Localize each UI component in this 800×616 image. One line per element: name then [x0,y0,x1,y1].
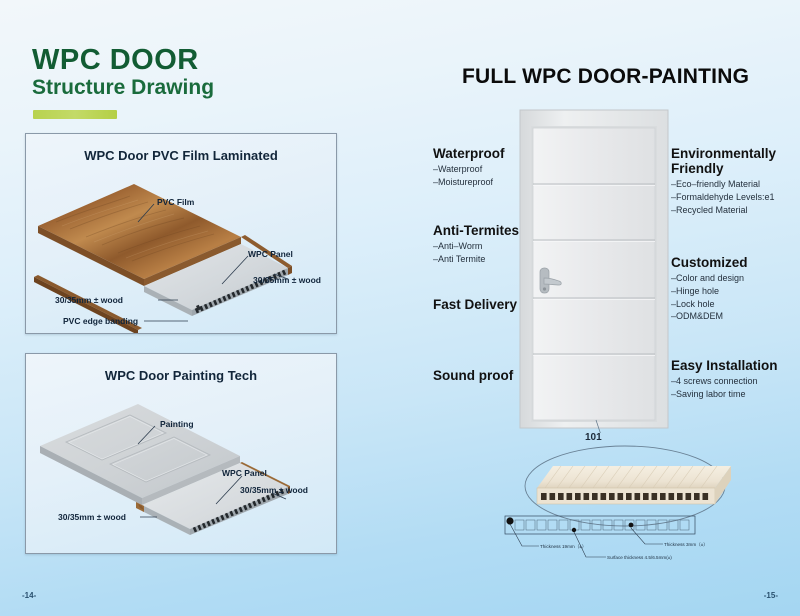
footer-page-left: -14- [22,591,36,600]
callout-pvc-edge-banding: PVC edge banding [63,316,138,326]
callout-wood-right-2: 30/35mm ± wood [240,485,308,495]
catalog-spread: WPC DOOR Structure Drawing WPC Door PVC … [0,0,800,616]
callout-wood-right: 30/35mm ± wood [253,275,321,285]
feature-fast-delivery: Fast Delivery [433,297,517,314]
feature-anti-termites: Anti-Termites –Anti–Worm –Anti Termite [433,223,519,266]
feature-eco-item-0: –Eco–friendly Material [671,178,791,191]
callout-painting: Painting [160,419,194,429]
panel-pvc-film-laminated: WPC Door PVC Film Laminated [25,133,337,334]
feature-eco-heading: Environmentally Friendly [671,146,791,176]
feature-easy-install-item-1: –Saving labor time [671,388,778,401]
feature-environmentally-friendly: Environmentally Friendly –Eco–friendly M… [671,146,791,217]
feature-waterproof-heading: Waterproof [433,146,505,161]
feature-easy-install-item-0: –4 screws connection [671,375,778,388]
feature-customized-item-0: –Color and design [671,272,748,285]
feature-eco-item-2: –Recycled Material [671,204,791,217]
feature-customized-item-3: –ODM&DEM [671,310,748,323]
hollow-board-3d [537,466,731,504]
feature-eco-item-1: –Formaldehyde Levels:e1 [671,191,791,204]
callout-wpc-panel-2: WPC Panel [222,468,267,478]
feature-easy-installation: Easy Installation –4 screws connection –… [671,358,778,401]
feature-fast-delivery-heading: Fast Delivery [433,297,517,312]
feature-anti-termites-item-0: –Anti–Worm [433,240,519,253]
right-page-title: FULL WPC DOOR-PAINTING [462,65,749,89]
callout-wpc-panel: WPC Panel [248,249,293,259]
feature-customized-item-1: –Hinge hole [671,285,748,298]
feature-customized-heading: Customized [671,255,748,270]
panel2-illustration [26,354,336,553]
feature-anti-termites-heading: Anti-Termites [433,223,519,238]
callout-wood-left: 30/35mm ± wood [55,295,123,305]
footer-page-right: -15- [764,591,778,600]
feature-waterproof-item-0: –Waterproof [433,163,505,176]
feature-sound-proof: Sound proof [433,368,513,385]
page-title: WPC DOOR [32,44,199,77]
door-illustration [518,108,670,433]
feature-waterproof: Waterproof –Waterproof –Moistureproof [433,146,505,189]
callout-pvc-film: PVC Film [157,197,194,207]
callout-wood-left-2: 30/35mm ± wood [58,512,126,522]
dimension-note-thickness-3mm: Thickness 3mm（±） [664,542,708,548]
dimension-note-thickness-19mm: Thickness 19mm（±） [540,544,586,550]
feature-anti-termites-item-1: –Anti Termite [433,253,519,266]
feature-waterproof-item-1: –Moistureproof [433,176,505,189]
panel-painting-tech: WPC Door Painting Tech [25,353,337,554]
dimension-note-surface-thickness: Surface thickness 4.5/6.5mm(±) [607,555,672,560]
accent-bar [33,110,117,119]
page-subtitle: Structure Drawing [32,76,214,100]
feature-sound-proof-heading: Sound proof [433,368,513,383]
feature-customized: Customized –Color and design –Hinge hole… [671,255,748,323]
feature-customized-item-2: –Lock hole [671,298,748,311]
feature-easy-install-heading: Easy Installation [671,358,778,373]
